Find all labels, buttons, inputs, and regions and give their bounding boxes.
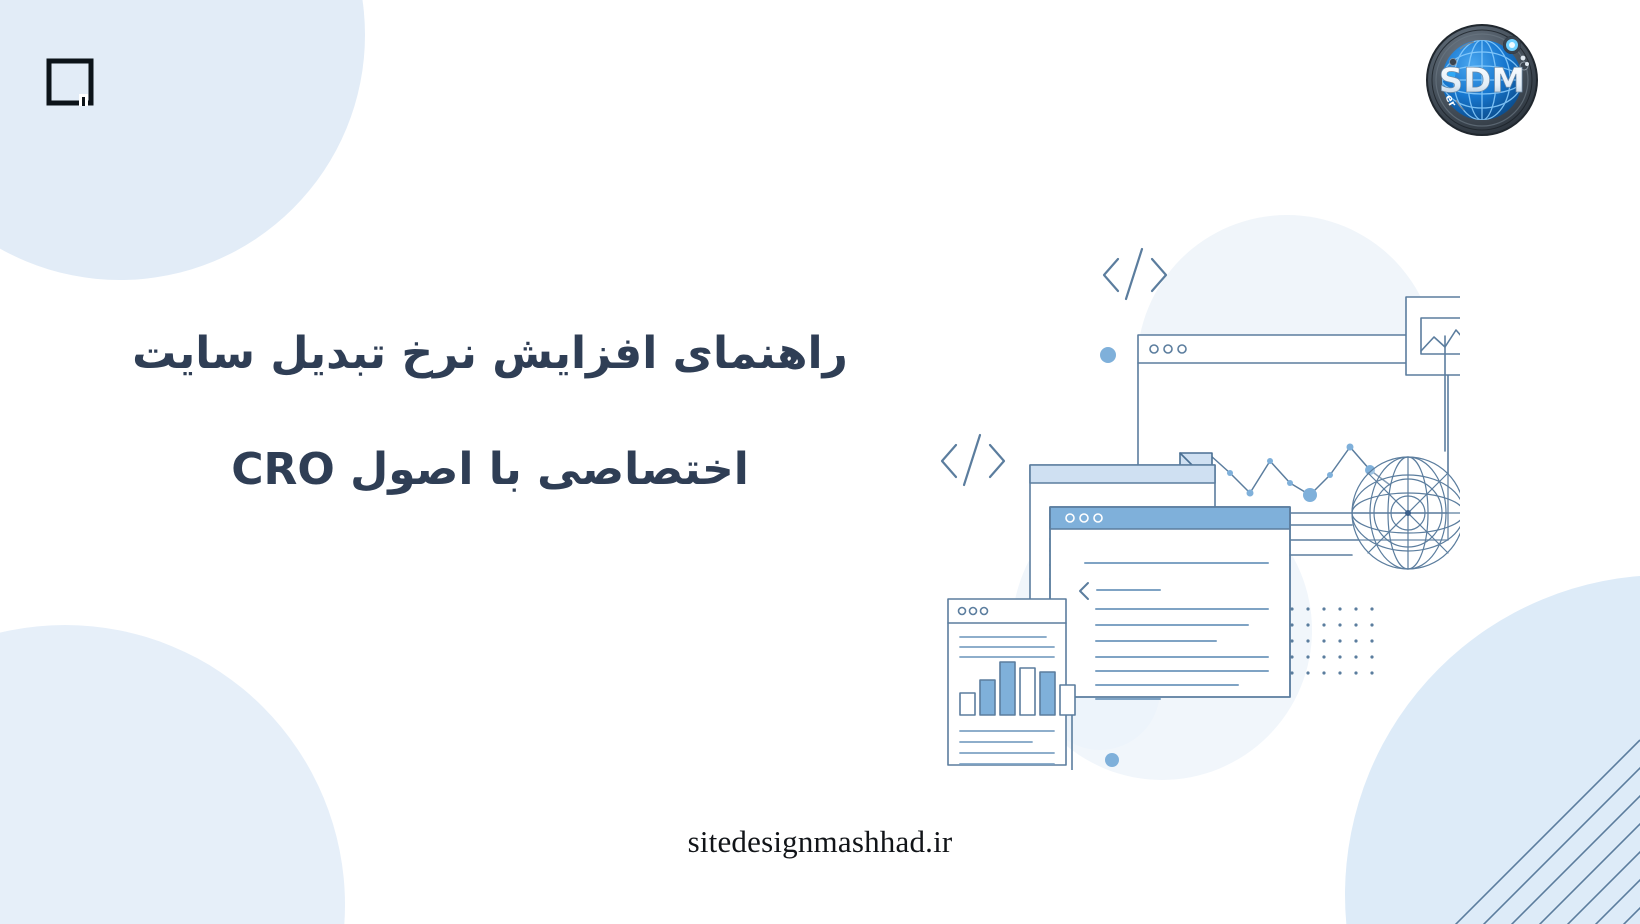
decorative-blob-bottom-left (0, 625, 345, 924)
web-analytics-illustration (900, 225, 1460, 770)
accent-dot-bottom (1105, 753, 1119, 767)
page-title-line-2: اختصاصی با اصول CRO (90, 412, 890, 528)
globe-wireframe (1352, 457, 1460, 569)
code-tag-symbol-left (942, 435, 1004, 485)
square-bracket-outline-icon (46, 58, 94, 106)
page-title-line-1: راهنمای افزایش نرخ تبدیل سایت (90, 296, 890, 412)
code-tag-symbol-top (1104, 249, 1166, 299)
dot-grid (1290, 607, 1373, 674)
code-window (1050, 507, 1290, 770)
report-window (948, 599, 1075, 765)
sdm-logo-badge-icon: SDM Web Developer (1424, 22, 1540, 138)
accent-dot-top (1100, 347, 1116, 363)
decorative-blob-top-left (0, 0, 365, 280)
page-title: راهنمای افزایش نرخ تبدیل سایت اختصاصی با… (90, 296, 890, 528)
footer-site-url[interactable]: sitedesignmashhad.ir (0, 824, 1640, 860)
hero-banner: SDM Web Developer راهنمای افزایش نرخ تبد… (0, 0, 1640, 924)
